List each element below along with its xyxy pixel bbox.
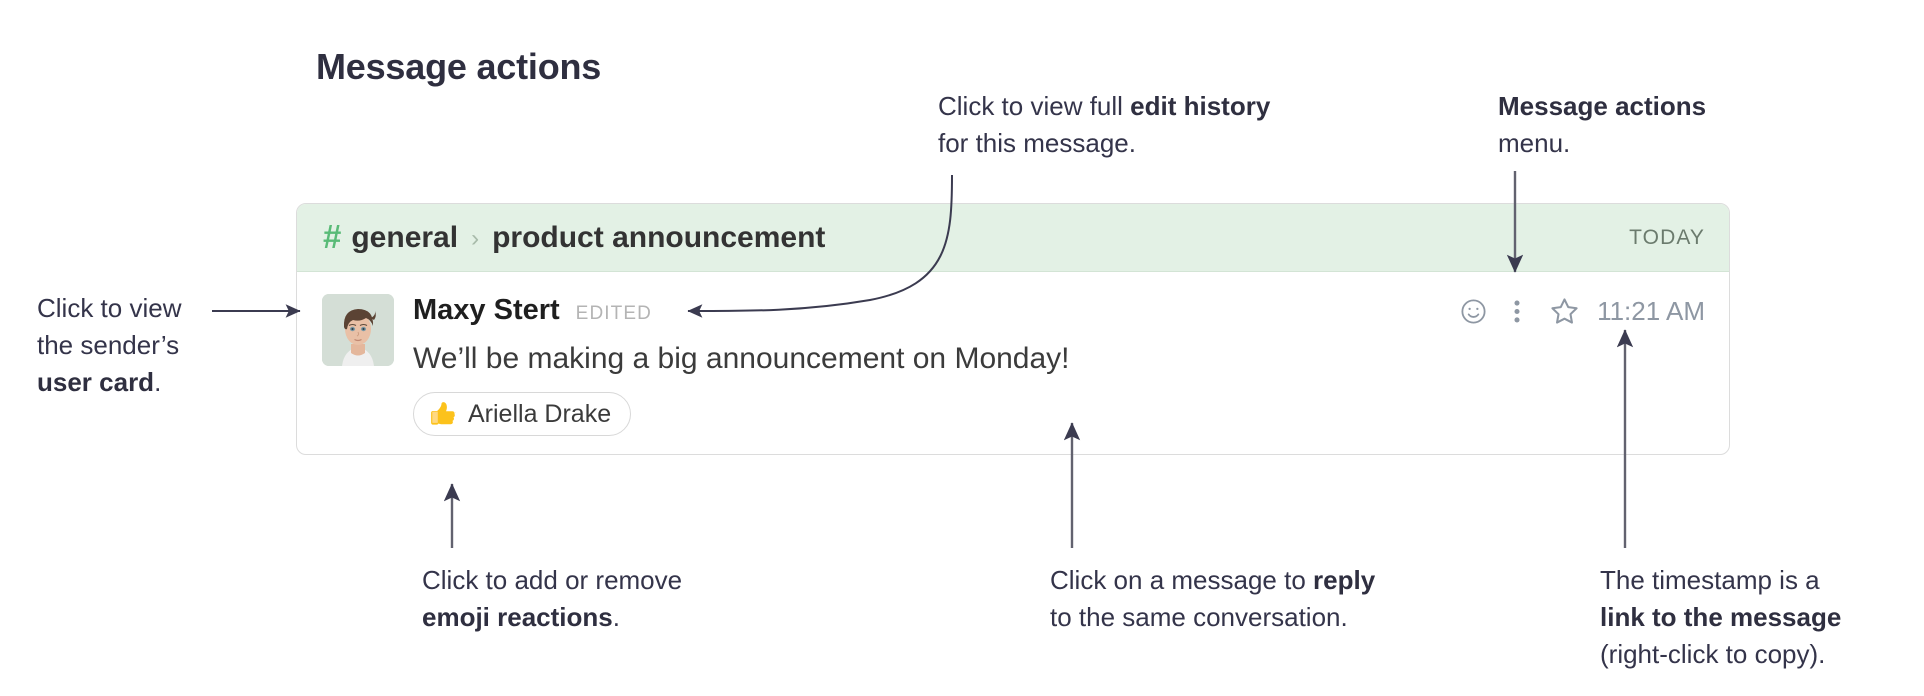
annotation-reply-line1-bold: reply (1313, 565, 1375, 595)
message-body[interactable]: We’ll be making a big announcement on Mo… (413, 340, 1431, 378)
annotation-emoji-line1: Click to add or remove (422, 562, 682, 599)
annotation-emoji-line2: emoji reactions (422, 602, 613, 632)
annotation-timestamp-line3: (right-click to copy). (1600, 636, 1841, 673)
sender-name[interactable]: Maxy Stert (413, 294, 560, 327)
annotation-user-card-line3: user card (37, 367, 154, 397)
message-row[interactable]: Maxy Stert EDITED We’ll be making a big … (297, 272, 1729, 436)
page-title: Message actions (316, 46, 601, 88)
message-controls: 11:21 AM (1431, 294, 1705, 328)
annotation-edit-history-line1-bold: edit history (1130, 91, 1270, 121)
thumbs-up-emoji (428, 400, 456, 428)
annotation-user-card-line1: Click to view (37, 290, 181, 327)
message-main: Maxy Stert EDITED We’ll be making a big … (394, 294, 1431, 436)
sender-line: Maxy Stert EDITED (413, 294, 1431, 328)
annotation-edit-history: Click to view full edit history for this… (938, 88, 1270, 162)
annotation-timestamp-line1: The timestamp is a (1600, 562, 1841, 599)
message-recipient-header[interactable]: # general › product announcement TODAY (297, 204, 1729, 272)
annotation-message-actions: Message actions menu. (1498, 88, 1706, 162)
avatar[interactable] (322, 294, 394, 366)
annotation-emoji-reactions: Click to add or remove emoji reactions. (422, 562, 682, 636)
annotation-timestamp-line2: link to the message (1600, 602, 1841, 632)
message-timestamp[interactable]: 11:21 AM (1597, 296, 1705, 327)
message-actions-menu-icon[interactable] (1495, 297, 1539, 326)
annotation-message-actions-line1: Message actions (1498, 91, 1706, 121)
hash-icon: # (323, 220, 341, 253)
edited-badge[interactable]: EDITED (576, 303, 652, 325)
add-reaction-icon[interactable] (1451, 297, 1495, 326)
reaction-label: Ariella Drake (468, 400, 611, 429)
stream-name[interactable]: general (351, 221, 458, 255)
annotation-edit-history-line1-pre: Click to view full (938, 91, 1130, 121)
emoji-reaction-pill[interactable]: Ariella Drake (413, 392, 631, 436)
message-actions-diagram: Message actions Click to view full edit … (0, 0, 1924, 696)
annotation-message-actions-line2: menu. (1498, 125, 1706, 162)
star-message-icon[interactable] (1539, 295, 1589, 328)
date-label[interactable]: TODAY (1629, 226, 1705, 250)
annotation-emoji-line2-post: . (613, 602, 620, 632)
annotation-reply: Click on a message to reply to the same … (1050, 562, 1375, 636)
annotation-edit-history-line1: Click to view full edit history (938, 88, 1270, 125)
annotation-reply-line1-pre: Click on a message to (1050, 565, 1313, 595)
annotation-edit-history-line2: for this message. (938, 125, 1270, 162)
breadcrumb-separator-icon: › (471, 227, 479, 251)
message-card: # general › product announcement TODAY (296, 203, 1730, 455)
annotation-reply-line2: to the same conversation. (1050, 599, 1375, 636)
reaction-row: Ariella Drake (413, 392, 1431, 436)
annotation-user-card-line3-post: . (154, 367, 161, 397)
annotation-timestamp: The timestamp is a link to the message (… (1600, 562, 1841, 673)
topic-name[interactable]: product announcement (492, 221, 825, 255)
annotation-user-card: Click to view the sender’s user card. (37, 290, 181, 401)
annotation-user-card-line2: the sender’s (37, 327, 181, 364)
